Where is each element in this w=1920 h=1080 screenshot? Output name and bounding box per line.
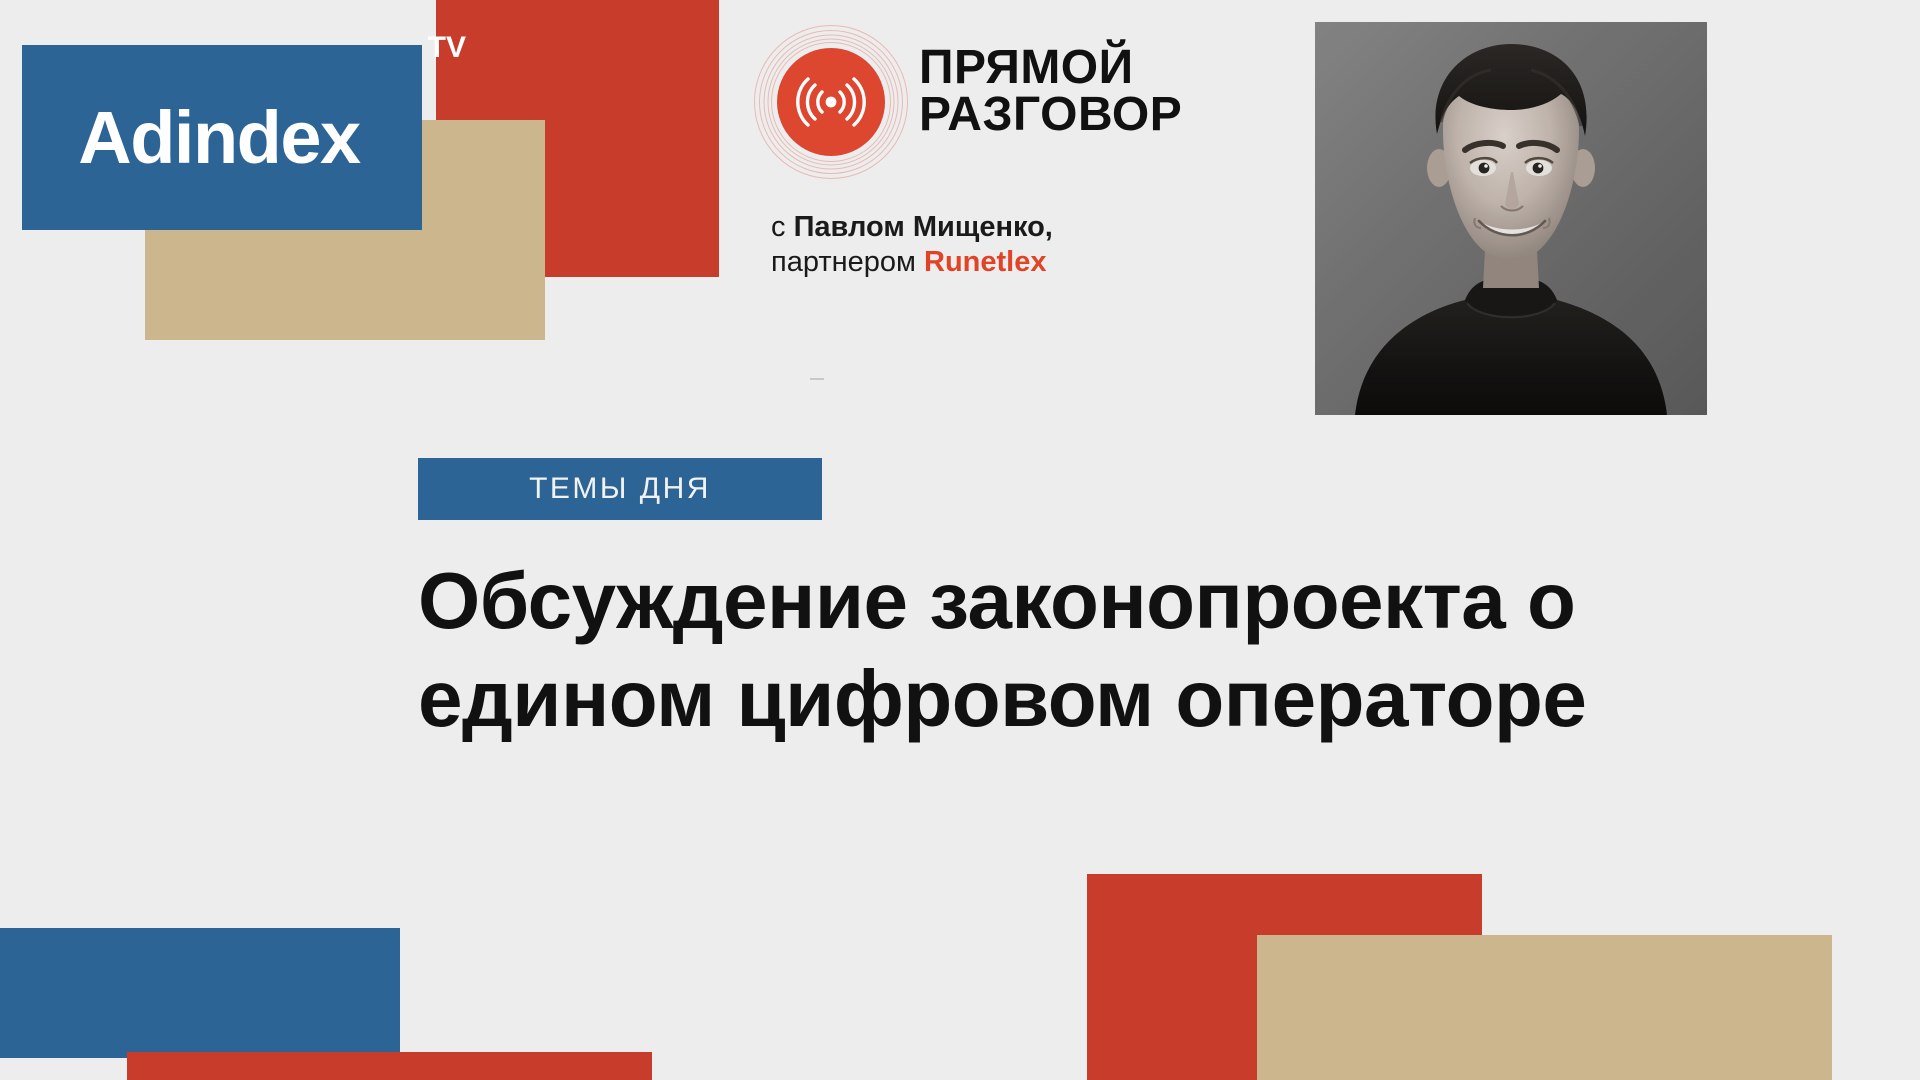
live-broadcast-icon <box>755 26 907 178</box>
adindex-tv-logo[interactable]: Adindex TV <box>22 45 422 230</box>
subtitle-line-company: партнером Runetlex <box>771 245 1231 280</box>
broadcast-lockup: ПРЯМОЙ РАЗГОВОР <box>755 20 1182 178</box>
broadcast-title: ПРЯМОЙ РАЗГОВОР <box>919 44 1182 138</box>
page-title: Обсуждение законопроекта о едином цифров… <box>418 552 1798 747</box>
broadcast-subtitle: с Павлом Мищенко, партнером Runetlex <box>771 210 1231 281</box>
blue-block-bottom-left-decoration <box>0 928 400 1058</box>
subtitle-line-host: с Павлом Мищенко, <box>771 210 1231 245</box>
subtitle-prefix-partner: партнером <box>771 246 924 278</box>
tan-block-bottom-right-decoration <box>1257 935 1832 1080</box>
logo-tv-superscript: TV <box>428 31 466 65</box>
broadcast-icon-disc <box>777 48 885 156</box>
broadcast-title-block: ПРЯМОЙ РАЗГОВОР <box>919 20 1182 138</box>
red-block-bottom-left-decoration <box>127 1052 652 1080</box>
subtitle-prefix-with: с <box>771 211 794 243</box>
subtitle-company-runetlex: Runetlex <box>924 246 1046 278</box>
subtitle-host-name: Павлом Мищенко, <box>794 211 1053 243</box>
topic-badge-label: ТЕМЫ ДНЯ <box>529 472 711 506</box>
small-dash-divider <box>810 378 824 380</box>
presentation-slide: Adindex TV <box>0 0 1920 1080</box>
speaker-portrait <box>1315 22 1707 415</box>
topic-of-the-day-badge: ТЕМЫ ДНЯ <box>418 458 822 520</box>
logo-wordmark-text: Adindex <box>78 101 365 175</box>
